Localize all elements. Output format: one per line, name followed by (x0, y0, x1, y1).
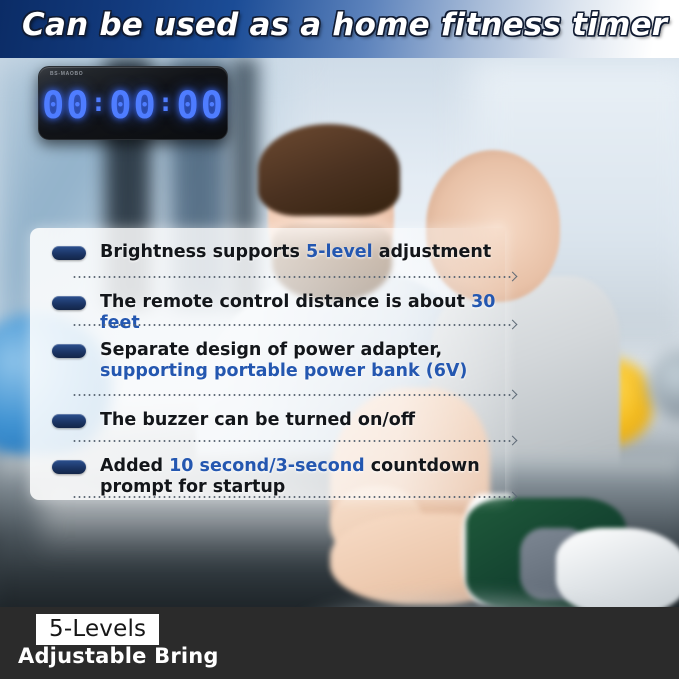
brand-logo: BS-MAOBO (50, 71, 83, 77)
page-title: Can be used as a home fitness timer (22, 7, 667, 43)
bullet-pill-icon (52, 344, 86, 358)
led-timer-device: BS-MAOBO 0 0 : 0 0 : 0 0 (38, 66, 228, 140)
product-infographic: Can be used as a home fitness timer BS-M… (0, 0, 679, 679)
feature-text: The remote control distance is about 30 … (100, 292, 520, 334)
timer-digit: 0 (176, 87, 197, 124)
feature-plain: adjustment (373, 242, 492, 262)
feature-text: Added 10 second/3-second countdown promp… (100, 456, 520, 498)
timer-display: 0 0 : 0 0 : 0 0 (47, 80, 217, 130)
feature-plain: The remote control distance is about (100, 292, 471, 312)
timer-digit: 0 (109, 87, 130, 124)
feature-plain: Separate design of power adapter, (100, 340, 442, 360)
divider-dotted (72, 496, 512, 498)
brightness-bar: 5-Levels Adjustable Bring 12345 (0, 607, 679, 679)
timer-colon: : (91, 90, 107, 120)
feature-highlight: 5-level (306, 242, 373, 262)
feature-highlight: 10 second/3-second (169, 456, 365, 476)
timer-digit: 0 (134, 87, 155, 124)
feature-highlight: supporting portable power bank (6V) (100, 361, 467, 381)
bullet-pill-icon (52, 414, 86, 428)
man-hair (258, 124, 400, 216)
divider-dotted (72, 324, 512, 326)
timer-colon: : (158, 90, 174, 120)
bullet-pill-icon (52, 460, 86, 474)
header-banner: Can be used as a home fitness timer (0, 0, 679, 58)
feature-text: Separate design of power adapter, suppor… (100, 340, 520, 382)
levels-badge-label: 5-Levels (49, 616, 146, 642)
feature-plain: The buzzer can be turned on/off (100, 410, 415, 430)
bullet-pill-icon (52, 246, 86, 260)
divider-dotted (72, 276, 512, 278)
divider-dotted (72, 440, 512, 442)
boy-sneaker (556, 528, 679, 607)
feature-text: The buzzer can be turned on/off (100, 410, 520, 431)
feature-plain: Brightness supports (100, 242, 306, 262)
feature-plain: Added (100, 456, 169, 476)
levels-badge: 5-Levels (36, 614, 159, 645)
timer-digit: 0 (201, 87, 222, 124)
timer-digit: 0 (66, 87, 87, 124)
bullet-pill-icon (52, 296, 86, 310)
divider-dotted (72, 394, 512, 396)
feature-list: Brightness supports 5-level adjustmentTh… (30, 228, 520, 500)
feature-text: Brightness supports 5-level adjustment (100, 242, 520, 263)
adjustable-brightness-label: Adjustable Bring (18, 644, 219, 668)
timer-digit: 0 (42, 87, 63, 124)
